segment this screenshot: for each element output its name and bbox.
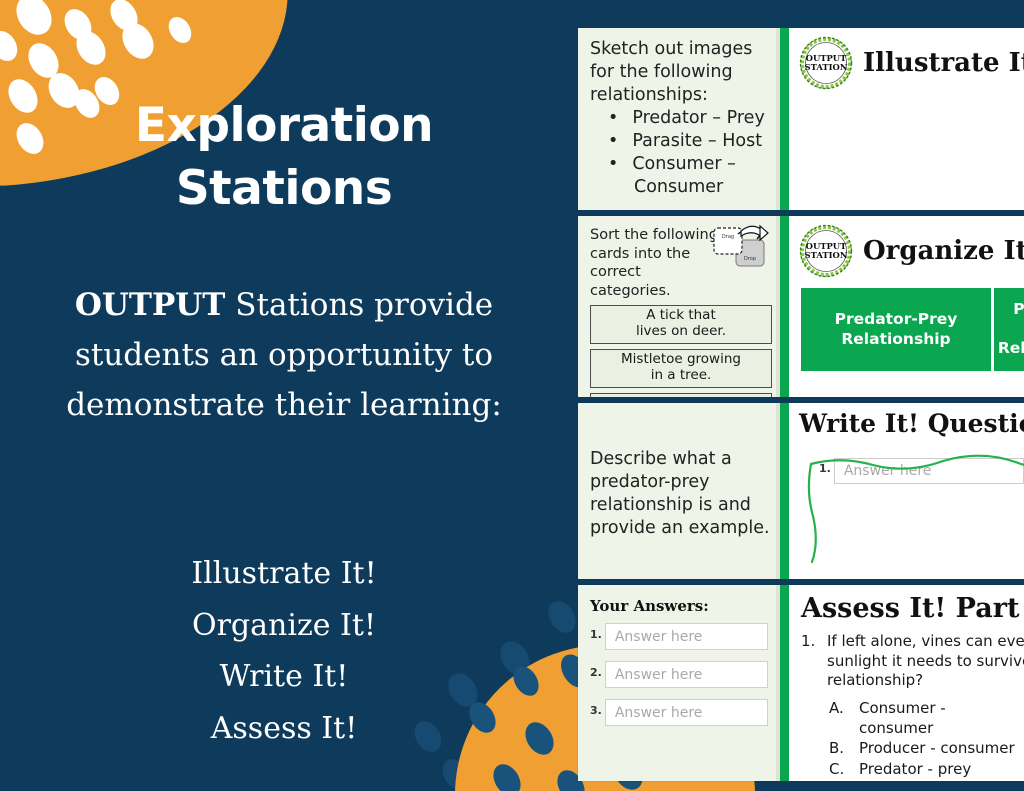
assess-answer-number: 2. bbox=[590, 666, 602, 679]
svg-text:Drop: Drop bbox=[744, 256, 756, 262]
output-station-badge-icon: OUTPUT STATION bbox=[799, 36, 853, 90]
assess-answer-row: 3. Answer here bbox=[590, 699, 772, 726]
list-item: Parasite – Host bbox=[590, 130, 772, 153]
card-assess-content: Assess It! Part 1 1. If left alone, vine… bbox=[780, 585, 1024, 781]
body-paragraph: OUTPUT Stations provide students an oppo… bbox=[30, 280, 538, 431]
choice-text-d: Parasite – host bbox=[859, 779, 968, 781]
left-text-column: Exploration Stations OUTPUT Stations pro… bbox=[0, 0, 568, 791]
slide-canvas: Exploration Stations OUTPUT Stations pro… bbox=[0, 0, 1024, 791]
organize-card-title: Organize It! bbox=[863, 236, 1024, 266]
card-organize-prompt-panel: Sort the following cards into the correc… bbox=[578, 216, 780, 397]
assess-answer-input-1[interactable]: Answer here bbox=[605, 623, 768, 650]
card-illustrate-it[interactable]: Sketch out images for the following rela… bbox=[578, 28, 1024, 210]
list-item[interactable]: D. Parasite – host bbox=[829, 779, 1024, 781]
choice-letter-d: D. bbox=[829, 779, 859, 781]
drag-drop-icon: Drop Drag bbox=[708, 222, 770, 276]
page-title: Exploration Stations bbox=[0, 95, 568, 220]
list-item[interactable]: A tick that lives on deer. bbox=[590, 305, 772, 344]
assess-question-text-3: relationship? bbox=[827, 671, 923, 691]
list-item[interactable]: A. Consumer - consumer bbox=[829, 698, 1024, 739]
organize-prompt-text: Sort the following cards into the correc… bbox=[590, 226, 718, 300]
list-item[interactable]: B. Producer - consumer bbox=[829, 738, 1024, 758]
output-station-badge-icon: OUTPUT STATION bbox=[799, 224, 853, 278]
choice-text-c: Predator - prey bbox=[859, 759, 971, 779]
illustrate-header-row: OUTPUT STATION Illustrate It! bbox=[789, 28, 1024, 90]
assess-question-number: 1. bbox=[801, 632, 827, 652]
assess-answer-input-3[interactable]: Answer here bbox=[605, 699, 768, 726]
organize-header-row: OUTPUT STATION Organize It! bbox=[789, 216, 1024, 278]
body-bold-lead: OUTPUT bbox=[75, 287, 226, 323]
your-answers-label: Your Answers: bbox=[590, 597, 772, 615]
write-card-title: Write It! Questions bbox=[789, 403, 1024, 438]
choice-text-b: Producer - consumer bbox=[859, 738, 1015, 758]
choice-text-a: Consumer - consumer bbox=[859, 698, 1024, 739]
choice-letter-b: B. bbox=[829, 738, 859, 758]
organize-category-table: Predator-Prey Relationship Parasite-Host… bbox=[801, 288, 1024, 371]
illustrate-prompt-text: Sketch out images for the following rela… bbox=[590, 38, 772, 107]
list-item[interactable]: C. Predator - prey bbox=[829, 759, 1024, 779]
station-list-item-illustrate: Illustrate It! bbox=[30, 548, 538, 600]
write-answer-area: 1. Answer here bbox=[805, 452, 1024, 564]
station-list-item-write: Write It! bbox=[30, 651, 538, 703]
station-list-item-organize: Organize It! bbox=[30, 600, 538, 652]
illustrate-bullet-list: Predator – Prey Parasite – Host Consumer… bbox=[590, 107, 772, 198]
assess-question-line: relationship? bbox=[801, 671, 1024, 691]
title-line-1: Exploration bbox=[0, 95, 568, 158]
write-prompt-text: Describe what a predator-prey relationsh… bbox=[590, 448, 772, 540]
station-list-item-assess: Assess It! bbox=[30, 703, 538, 755]
svg-text:Drag: Drag bbox=[722, 234, 734, 240]
assess-answer-number: 3. bbox=[590, 704, 602, 717]
table-column-header-predator-prey[interactable]: Predator-Prey Relationship bbox=[801, 288, 994, 371]
assess-answer-row: 2. Answer here bbox=[590, 661, 772, 688]
card-illustrate-prompt-panel: Sketch out images for the following rela… bbox=[578, 28, 780, 210]
list-item[interactable]: A tapeworm living inside a human body. bbox=[590, 393, 772, 397]
card-organize-it[interactable]: Sort the following cards into the correc… bbox=[578, 216, 1024, 397]
assess-answer-input-2[interactable]: Answer here bbox=[605, 661, 768, 688]
hand-drawn-border-icon bbox=[805, 452, 1024, 564]
choice-letter-c: C. bbox=[829, 759, 859, 779]
assess-card-title: Assess It! Part 1 bbox=[789, 585, 1024, 624]
assess-question-block: 1. If left alone, vines can eventually k… bbox=[789, 624, 1024, 781]
list-item[interactable]: Mistletoe growing in a tree. bbox=[590, 349, 772, 388]
card-write-content: Write It! Questions 1. Answer here bbox=[780, 403, 1024, 579]
card-assess-answers-panel: Your Answers: 1. Answer here 2. Answer h… bbox=[578, 585, 780, 781]
svg-text:STATION: STATION bbox=[805, 62, 848, 72]
card-write-it[interactable]: Describe what a predator-prey relationsh… bbox=[578, 403, 1024, 579]
assess-question-spacer bbox=[801, 652, 827, 672]
assess-question-text-2: sunlight it needs to survive. What is an… bbox=[827, 652, 1024, 672]
assess-answer-row: 1. Answer here bbox=[590, 623, 772, 650]
list-item: Predator – Prey bbox=[590, 107, 772, 130]
assess-question-text-1: If left alone, vines can eventually kill… bbox=[827, 632, 1024, 652]
station-list: Illustrate It! Organize It! Write It! As… bbox=[30, 548, 538, 754]
illustrate-card-title: Illustrate It! bbox=[863, 48, 1024, 78]
card-stack: Sketch out images for the following rela… bbox=[578, 28, 1024, 787]
card-write-prompt-panel: Describe what a predator-prey relationsh… bbox=[578, 403, 780, 579]
svg-text:STATION: STATION bbox=[805, 250, 848, 260]
assess-choice-list: A. Consumer - consumer B. Producer - con… bbox=[801, 691, 1024, 782]
card-illustrate-content: OUTPUT STATION Illustrate It! bbox=[780, 28, 1024, 210]
assess-answer-number: 1. bbox=[590, 628, 602, 641]
assess-question-line: 1. If left alone, vines can eventually k… bbox=[801, 632, 1024, 652]
assess-question-spacer bbox=[801, 671, 827, 691]
card-organize-content: OUTPUT STATION Organize It! Predator-Pre… bbox=[780, 216, 1024, 397]
choice-letter-a: A. bbox=[829, 698, 859, 739]
title-line-2: Stations bbox=[0, 158, 568, 221]
list-item: Consumer – Consumer bbox=[590, 153, 772, 199]
assess-question-line: sunlight it needs to survive. What is an… bbox=[801, 652, 1024, 672]
card-assess-it[interactable]: Your Answers: 1. Answer here 2. Answer h… bbox=[578, 585, 1024, 781]
table-column-header-parasite-host[interactable]: Parasite-Host Relationship bbox=[994, 288, 1024, 371]
